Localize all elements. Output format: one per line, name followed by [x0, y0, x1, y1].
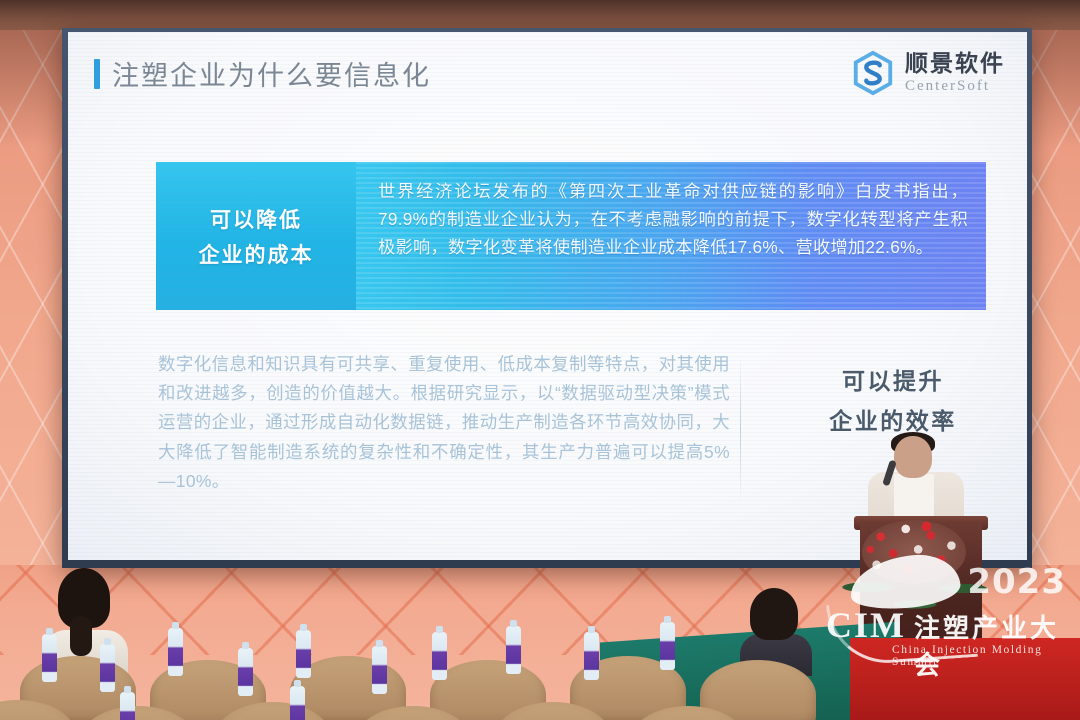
water-bottle: [584, 632, 599, 680]
vertical-divider: [740, 354, 741, 504]
statistics-paragraph-box: 世界经济论坛发布的《第四次工业革命对供应链的影响》白皮书指出，79.9%的制造业…: [356, 162, 986, 310]
slide-title-text: 注塑企业为什么要信息化: [112, 54, 431, 93]
conference-room-photo: 注塑企业为什么要信息化 顺景软件 CenterSoft 可以降低 企业的成本: [0, 0, 1080, 720]
event-name: CIM 注塑产业大会: [826, 604, 1074, 682]
cost-label-line1: 可以降低: [210, 204, 302, 234]
water-bottle: [432, 632, 447, 680]
cost-label-line2: 企业的成本: [199, 239, 314, 269]
cost-reduction-label: 可以降低 企业的成本: [156, 162, 356, 310]
water-bottle: [168, 628, 183, 676]
water-bottle: [506, 626, 521, 674]
hexagon-s-logo-icon: [850, 50, 896, 96]
speaker-head: [894, 436, 932, 478]
logo-text: 顺景软件 CenterSoft: [905, 52, 1005, 94]
water-bottle: [100, 644, 115, 692]
logo-name-en: CenterSoft: [905, 79, 1005, 94]
water-bottle: [660, 622, 675, 670]
person-ponytail: [70, 616, 92, 656]
person-hair: [750, 588, 798, 640]
event-year: 2023: [967, 562, 1066, 602]
ceiling-beam: [0, 0, 1080, 30]
logo-name-cn: 顺景软件: [905, 52, 1005, 75]
efficiency-paragraph: 数字化信息和知识具有可共享、重复使用、低成本复制等特点，对其使用和改进越多，创造…: [158, 350, 730, 496]
water-bottle: [238, 648, 253, 696]
page-title: 注塑企业为什么要信息化: [94, 54, 431, 93]
water-bottle: [42, 634, 57, 682]
title-accent-bar: [94, 59, 100, 89]
water-bottle: [372, 646, 387, 694]
event-acronym: CIM: [826, 604, 906, 646]
statistics-paragraph: 世界经济论坛发布的《第四次工业革命对供应链的影响》白皮书指出，79.9%的制造业…: [378, 178, 968, 262]
event-name-en: China Injection Molding Summit: [892, 644, 1074, 668]
water-bottle: [120, 692, 135, 720]
water-bottle: [290, 686, 305, 720]
efficiency-paragraph-box: 数字化信息和知识具有可共享、重复使用、低成本复制等特点，对其使用和改进越多，创造…: [158, 350, 730, 496]
event-watermark: 2023 CIM 注塑产业大会 China Injection Molding …: [822, 560, 1074, 676]
efficiency-label-line1: 可以提升: [842, 362, 944, 396]
company-logo: 顺景软件 CenterSoft: [850, 50, 1005, 96]
top-callout-band: 可以降低 企业的成本 世界经济论坛发布的《第四次工业革命对供应链的影响》白皮书指…: [156, 162, 986, 310]
efficiency-label: 可以提升 企业的效率: [768, 362, 1018, 436]
water-bottle: [296, 630, 311, 678]
audience-person-second: [740, 588, 812, 668]
